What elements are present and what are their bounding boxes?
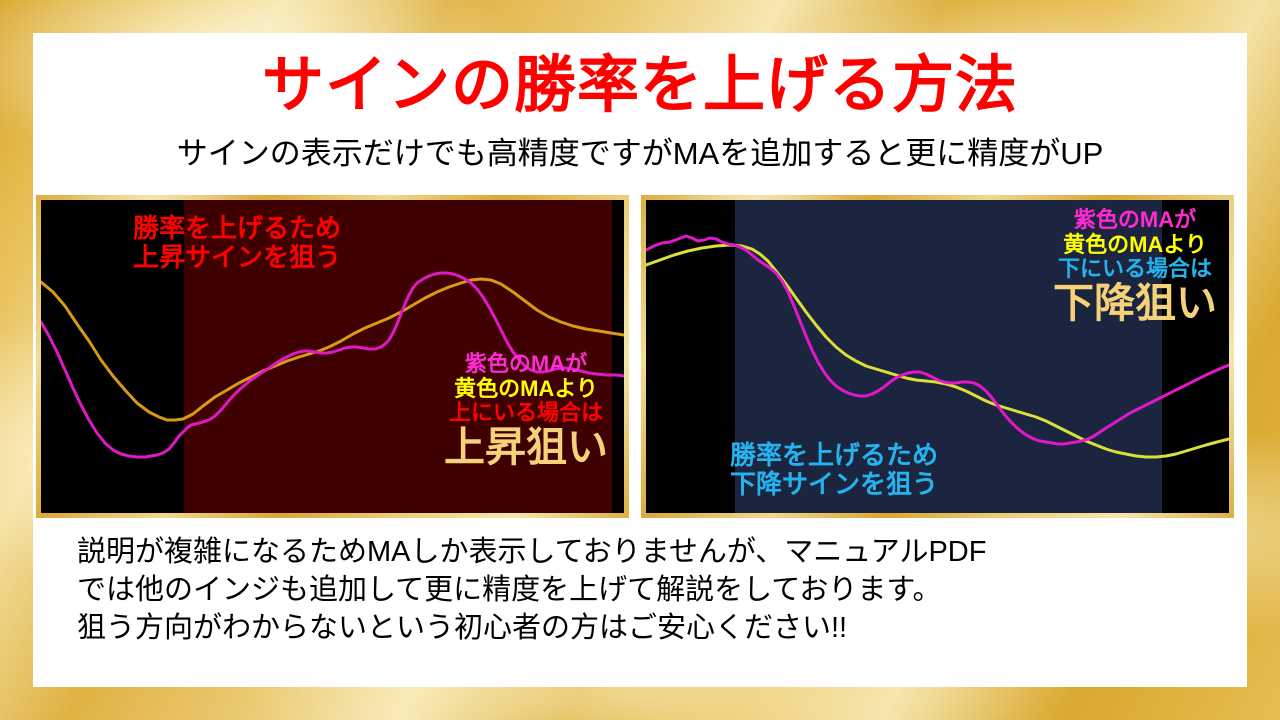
caption-downtrend-bottom-line2: 下降サインを狙う bbox=[730, 470, 938, 499]
caption-uptrend-top-line2: 上昇サインを狙う bbox=[133, 243, 341, 272]
page-title: サインの勝率を上げる方法 bbox=[33, 55, 1247, 117]
white-card: サインの勝率を上げる方法 サインの表示だけでも高精度ですがMAを追加すると更に精… bbox=[33, 33, 1247, 687]
caption-uptrend-rule-conclusion: 上昇狙い bbox=[444, 426, 608, 469]
caption-uptrend-top-line1: 勝率を上げるため bbox=[133, 214, 341, 243]
caption-downtrend-bottom-line1: 勝率を上げるため bbox=[730, 441, 938, 470]
caption-uptrend-top: 勝率を上げるため 上昇サインを狙う bbox=[133, 214, 341, 272]
chart-panel-downtrend: 紫色のMAが 黄色のMAより 下にいる場合は 下降狙い 勝率を上げるため 下降サ… bbox=[641, 195, 1234, 518]
chart-canvas-downtrend: 紫色のMAが 黄色のMAより 下にいる場合は 下降狙い 勝率を上げるため 下降サ… bbox=[646, 200, 1229, 513]
caption-downtrend-bottom: 勝率を上げるため 下降サインを狙う bbox=[730, 441, 938, 499]
caption-downtrend-rule: 紫色のMAが 黄色のMAより 下にいる場合は 下降狙い bbox=[1053, 208, 1217, 325]
footer-line-2: では他のインジも追加して更に精度を上げて解説をしております。 bbox=[77, 571, 1217, 609]
caption-downtrend-rule-line1: 紫色のMAが bbox=[1053, 208, 1217, 233]
caption-downtrend-rule-line3: 下にいる場合は bbox=[1053, 257, 1217, 282]
caption-uptrend-rule-line3: 上にいる場合は bbox=[444, 401, 608, 426]
caption-uptrend-rule-line2: 黄色のMAより bbox=[444, 377, 608, 402]
page-subtitle: サインの表示だけでも高精度ですがMAを追加すると更に精度がUP bbox=[33, 138, 1247, 169]
chart-panel-uptrend: 勝率を上げるため 上昇サインを狙う 紫色のMAが 黄色のMAより 上にいる場合は… bbox=[36, 195, 629, 518]
caption-uptrend-rule: 紫色のMAが 黄色のMAより 上にいる場合は 上昇狙い bbox=[444, 352, 608, 469]
footer-line-3: 狙う方向がわからないという初心者の方はご安心ください!! bbox=[77, 609, 1217, 647]
footer-note: 説明が複雑になるためMAしか表示しておりませんが、マニュアルPDF では他のイン… bbox=[77, 533, 1217, 647]
chart-canvas-uptrend: 勝率を上げるため 上昇サインを狙う 紫色のMAが 黄色のMAより 上にいる場合は… bbox=[41, 200, 624, 513]
footer-line-1: 説明が複雑になるためMAしか表示しておりませんが、マニュアルPDF bbox=[77, 533, 1217, 571]
caption-uptrend-rule-line1: 紫色のMAが bbox=[444, 352, 608, 377]
caption-downtrend-rule-conclusion: 下降狙い bbox=[1053, 282, 1217, 325]
slide-root: サインの勝率を上げる方法 サインの表示だけでも高精度ですがMAを追加すると更に精… bbox=[0, 0, 1280, 720]
caption-downtrend-rule-line2: 黄色のMAより bbox=[1053, 233, 1217, 258]
